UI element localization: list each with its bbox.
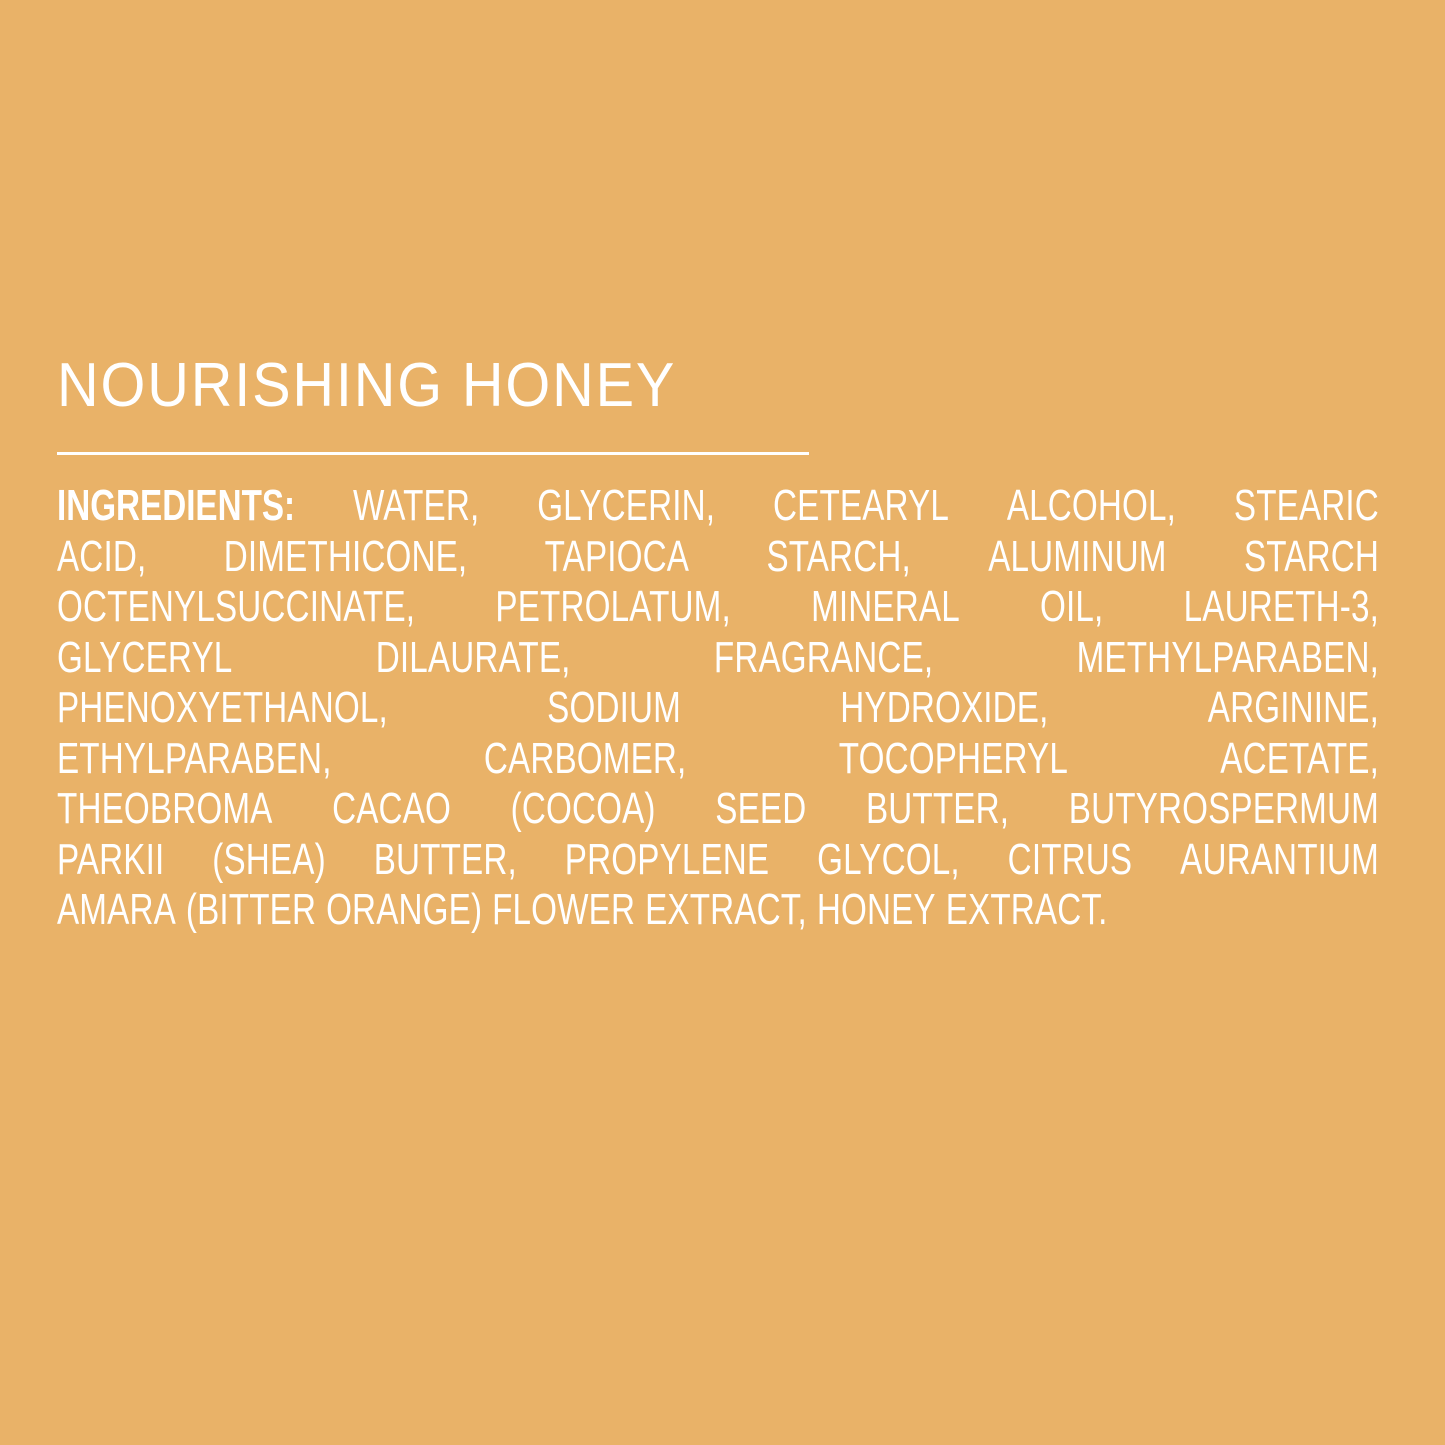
ingredient-token: CETEARYL [773, 481, 949, 532]
ingredient-token: BUTTER, [374, 835, 517, 886]
ingredient-token: ACID, [57, 532, 146, 583]
ingredient-token: HYDROXIDE, [840, 683, 1048, 734]
ingredient-token: BUTYROSPERMUM [1069, 784, 1379, 835]
ingredient-token: ETHYLPARABEN, [57, 734, 332, 785]
ingredients-line: GLYCERYLDILAURATE,FRAGRANCE,METHYLPARABE… [57, 633, 1379, 684]
ingredient-token: THEOBROMA [57, 784, 272, 835]
ingredient-token: DIMETHICONE, [224, 532, 468, 583]
ingredient-token: (COCOA) [511, 784, 656, 835]
ingredients-line: AMARA(BITTERORANGE)FLOWEREXTRACT,HONEYEX… [57, 885, 1379, 936]
ingredient-token: ARGININE, [1208, 683, 1379, 734]
ingredient-token: STARCH, [766, 532, 910, 583]
ingredient-token: AMARA [57, 885, 176, 936]
ingredient-token: METHYLPARABEN, [1077, 633, 1379, 684]
ingredient-token: SODIUM [547, 683, 681, 734]
ingredients-line: INGREDIENTS:WATER,GLYCERIN,CETEARYLALCOH… [57, 481, 1379, 532]
ingredients-line: PARKII(SHEA)BUTTER,PROPYLENEGLYCOL,CITRU… [57, 835, 1379, 886]
ingredient-token: SEED [715, 784, 806, 835]
ingredient-token: PARKII [57, 835, 164, 886]
ingredient-token: LAURETH-3, [1184, 582, 1379, 633]
ingredients-line: THEOBROMACACAO(COCOA)SEEDBUTTER,BUTYROSP… [57, 784, 1379, 835]
ingredient-token: DILAURATE, [376, 633, 571, 684]
ingredient-token: CARBOMER, [484, 734, 687, 785]
ingredients-heading: INGREDIENTS: [57, 481, 295, 532]
ingredient-token: PETROLATUM, [495, 582, 730, 633]
ingredients-line: ETHYLPARABEN,CARBOMER,TOCOPHERYLACETATE, [57, 734, 1379, 785]
ingredient-token: BUTTER, [866, 784, 1009, 835]
ingredients-list: INGREDIENTS:WATER,GLYCERIN,CETEARYLALCOH… [57, 481, 1387, 936]
ingredient-token: PHENOXYETHANOL, [57, 683, 388, 734]
ingredient-token: OCTENYLSUCCINATE, [57, 582, 415, 633]
ingredient-token: TOCOPHERYL [839, 734, 1068, 785]
ingredient-token: GLYCERIN, [537, 481, 715, 532]
ingredient-token: EXTRACT, [645, 885, 807, 936]
ingredient-token: EXTRACT. [946, 885, 1108, 936]
ingredient-token: GLYCOL, [817, 835, 960, 886]
ingredient-token: STARCH [1244, 532, 1379, 583]
page-title: NOURISHING HONEY [57, 352, 1294, 452]
ingredients-line: ACID,DIMETHICONE,TAPIOCASTARCH,ALUMINUMS… [57, 532, 1379, 583]
ingredient-token: FRAGRANCE, [714, 633, 933, 684]
title-divider [57, 452, 809, 455]
ingredient-token: OIL, [1040, 582, 1103, 633]
ingredient-token: STEARIC [1234, 481, 1379, 532]
ingredient-token: CACAO [332, 784, 451, 835]
ingredient-token: PROPYLENE [565, 835, 769, 886]
ingredient-token: CITRUS [1008, 835, 1133, 886]
ingredient-token: (BITTER [186, 885, 316, 936]
ingredient-token: ORANGE) [326, 885, 482, 936]
ingredient-token: ALUMINUM [988, 532, 1166, 583]
ingredient-token: GLYCERYL [57, 633, 232, 684]
ingredient-token: ACETATE, [1220, 734, 1379, 785]
ingredient-token: ALCOHOL, [1007, 481, 1176, 532]
ingredients-line: OCTENYLSUCCINATE,PETROLATUM,MINERALOIL,L… [57, 582, 1379, 633]
ingredient-token: TAPIOCA [545, 532, 689, 583]
ingredient-token: HONEY [817, 885, 936, 936]
ingredient-token: MINERAL [811, 582, 960, 633]
ingredient-token: (SHEA) [212, 835, 325, 886]
product-label-panel: NOURISHING HONEY INGREDIENTS:WATER,GLYCE… [57, 352, 1387, 936]
ingredients-line: PHENOXYETHANOL,SODIUMHYDROXIDE,ARGININE, [57, 683, 1379, 734]
ingredient-token: WATER, [353, 481, 479, 532]
ingredient-token: FLOWER [492, 885, 635, 936]
ingredient-token: AURANTIUM [1180, 835, 1379, 886]
